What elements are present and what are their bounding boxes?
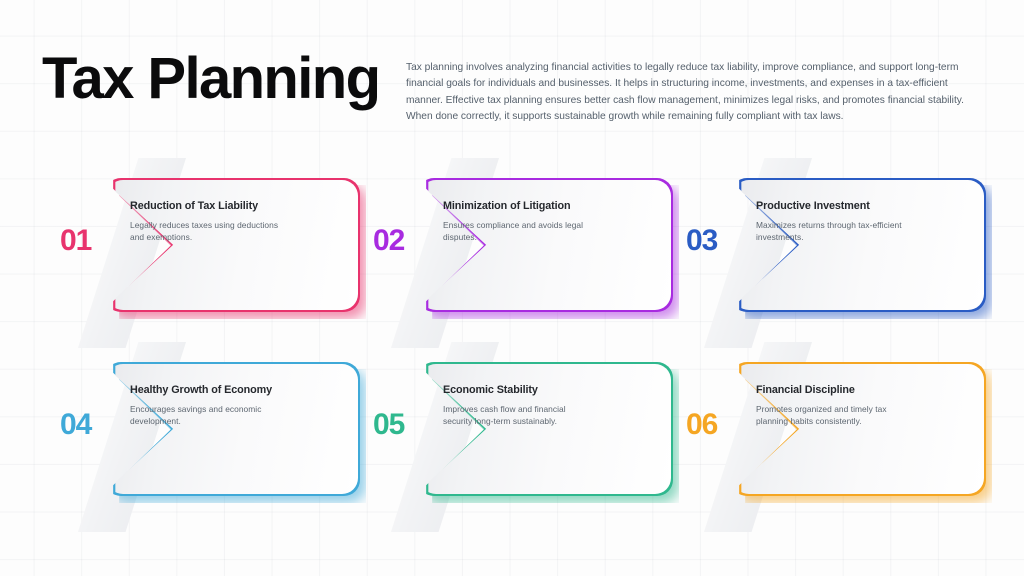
card-text: Economic StabilityImproves cash flow and… — [443, 384, 595, 427]
card-number: 05 — [373, 410, 435, 440]
intro-paragraph: Tax planning involves analyzing financia… — [406, 60, 984, 125]
card-text: Productive InvestmentMaximizes returns t… — [756, 200, 908, 243]
card-shape[interactable] — [731, 362, 986, 496]
card-title: Productive Investment — [756, 200, 908, 213]
card-number: 06 — [686, 410, 748, 440]
card-shape[interactable] — [105, 178, 360, 312]
card-number: 02 — [373, 226, 435, 256]
card-number: 04 — [60, 410, 122, 440]
card-04[interactable]: 04Healthy Growth of EconomyEncourages sa… — [42, 354, 372, 514]
card-description: Improves cash flow and financial securit… — [443, 404, 595, 427]
card-title: Healthy Growth of Economy — [130, 384, 282, 397]
slide-canvas: Tax Planning Tax planning involves analy… — [0, 0, 1024, 576]
card-text: Reduction of Tax LiabilityLegally reduce… — [130, 200, 282, 243]
card-description: Maximizes returns through tax-efficient … — [756, 220, 908, 243]
card-shape[interactable] — [731, 178, 986, 312]
card-06[interactable]: 06Financial DisciplinePromotes organized… — [668, 354, 998, 514]
card-shape[interactable] — [418, 362, 673, 496]
cards-grid: 01Reduction of Tax LiabilityLegally redu… — [0, 160, 1024, 520]
card-text: Healthy Growth of EconomyEncourages savi… — [130, 384, 282, 427]
card-number: 03 — [686, 226, 748, 256]
card-01[interactable]: 01Reduction of Tax LiabilityLegally redu… — [42, 170, 372, 330]
card-title: Reduction of Tax Liability — [130, 200, 282, 213]
card-description: Legally reduces taxes using deductions a… — [130, 220, 282, 243]
card-shape[interactable] — [418, 178, 673, 312]
card-title: Economic Stability — [443, 384, 595, 397]
card-02[interactable]: 02Minimization of LitigationEnsures comp… — [355, 170, 685, 330]
card-shape[interactable] — [105, 362, 360, 496]
card-title: Minimization of Litigation — [443, 200, 595, 213]
card-number: 01 — [60, 226, 122, 256]
card-03[interactable]: 03Productive InvestmentMaximizes returns… — [668, 170, 998, 330]
card-title: Financial Discipline — [756, 384, 908, 397]
card-description: Promotes organized and timely tax planni… — [756, 404, 908, 427]
card-description: Ensures compliance and avoids legal disp… — [443, 220, 595, 243]
page-title: Tax Planning — [42, 50, 379, 108]
card-text: Minimization of LitigationEnsures compli… — [443, 200, 595, 243]
header: Tax Planning Tax planning involves analy… — [0, 0, 1024, 150]
card-05[interactable]: 05Economic StabilityImproves cash flow a… — [355, 354, 685, 514]
card-description: Encourages savings and economic developm… — [130, 404, 282, 427]
card-text: Financial DisciplinePromotes organized a… — [756, 384, 908, 427]
